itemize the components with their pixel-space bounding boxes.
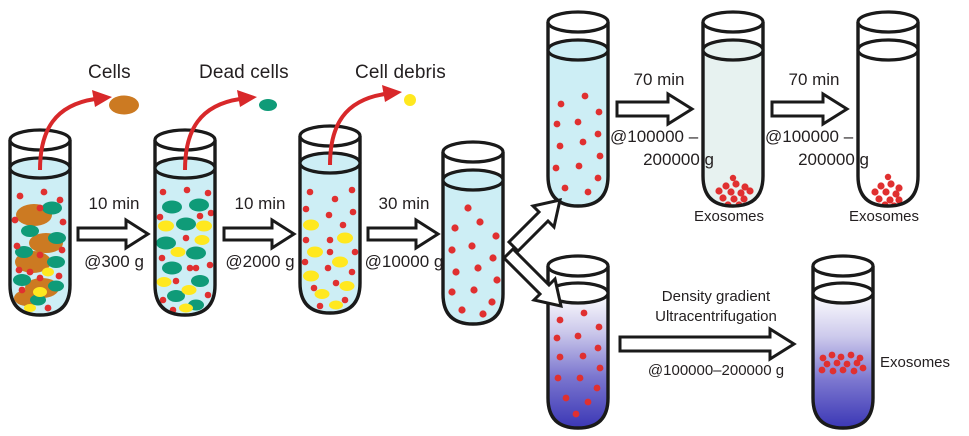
- step-uc-1-time: 70 min: [621, 70, 697, 89]
- label-cell-debris: Cell debris: [355, 62, 446, 83]
- step-2000g-time: 10 min: [222, 194, 298, 213]
- step-density-force: @100000–200000 g: [616, 362, 816, 380]
- step-uc-2-time: 70 min: [776, 70, 852, 89]
- tube-7-exosome-pellet-2: [858, 12, 918, 210]
- step-300g-time: 10 min: [76, 194, 152, 213]
- step-10000g-time: 30 min: [366, 194, 442, 213]
- step-300g-force: @300 g: [74, 252, 154, 271]
- label-dead-cells: Dead cells: [199, 62, 289, 83]
- step-uc-2-force-line2: 200000 g: [765, 150, 869, 169]
- tube-9-density-gradient-band: [813, 256, 873, 428]
- cell-debris-particle-icon: [404, 94, 416, 106]
- process-arrow-density-gradient: [620, 329, 794, 359]
- tube-6-exosome-pellet-1: [703, 12, 763, 209]
- label-exosomes-pellet-2: Exosomes: [849, 209, 919, 226]
- process-arrow-10000g: [368, 220, 438, 248]
- label-cells: Cells: [88, 62, 131, 83]
- step-density-line2: Ultracentrifugation: [616, 308, 816, 326]
- process-arrow-uc-2: [772, 94, 847, 124]
- process-arrow-300g: [78, 220, 148, 248]
- tube-4-after-10000g: [443, 142, 503, 324]
- label-exosomes-band: Exosomes: [880, 355, 950, 372]
- dead-cells-particle-icon: [259, 99, 277, 111]
- diagram-canvas: [0, 0, 969, 436]
- step-10000g-force: @10000 g: [356, 252, 452, 271]
- step-uc-2-force-line1: @100000 –: [765, 127, 869, 146]
- step-2000g-force: @2000 g: [216, 252, 304, 271]
- label-exosomes-pellet-1: Exosomes: [694, 209, 764, 226]
- exosome-isolation-diagram: Cells Dead cells Cell debris 10 min @300…: [0, 0, 969, 436]
- step-uc-1-force-line1: @100000 –: [610, 127, 714, 146]
- tube-5-uc-input: [548, 12, 608, 206]
- step-density-line1: Density gradient: [616, 288, 816, 306]
- process-arrow-2000g: [224, 220, 294, 248]
- branch-arrow-up: [509, 200, 560, 251]
- branch-arrow-down: [504, 249, 561, 306]
- step-uc-1-force-line2: 200000 g: [610, 150, 714, 169]
- process-arrow-uc-1: [617, 94, 692, 124]
- cells-particle-icon: [109, 96, 139, 115]
